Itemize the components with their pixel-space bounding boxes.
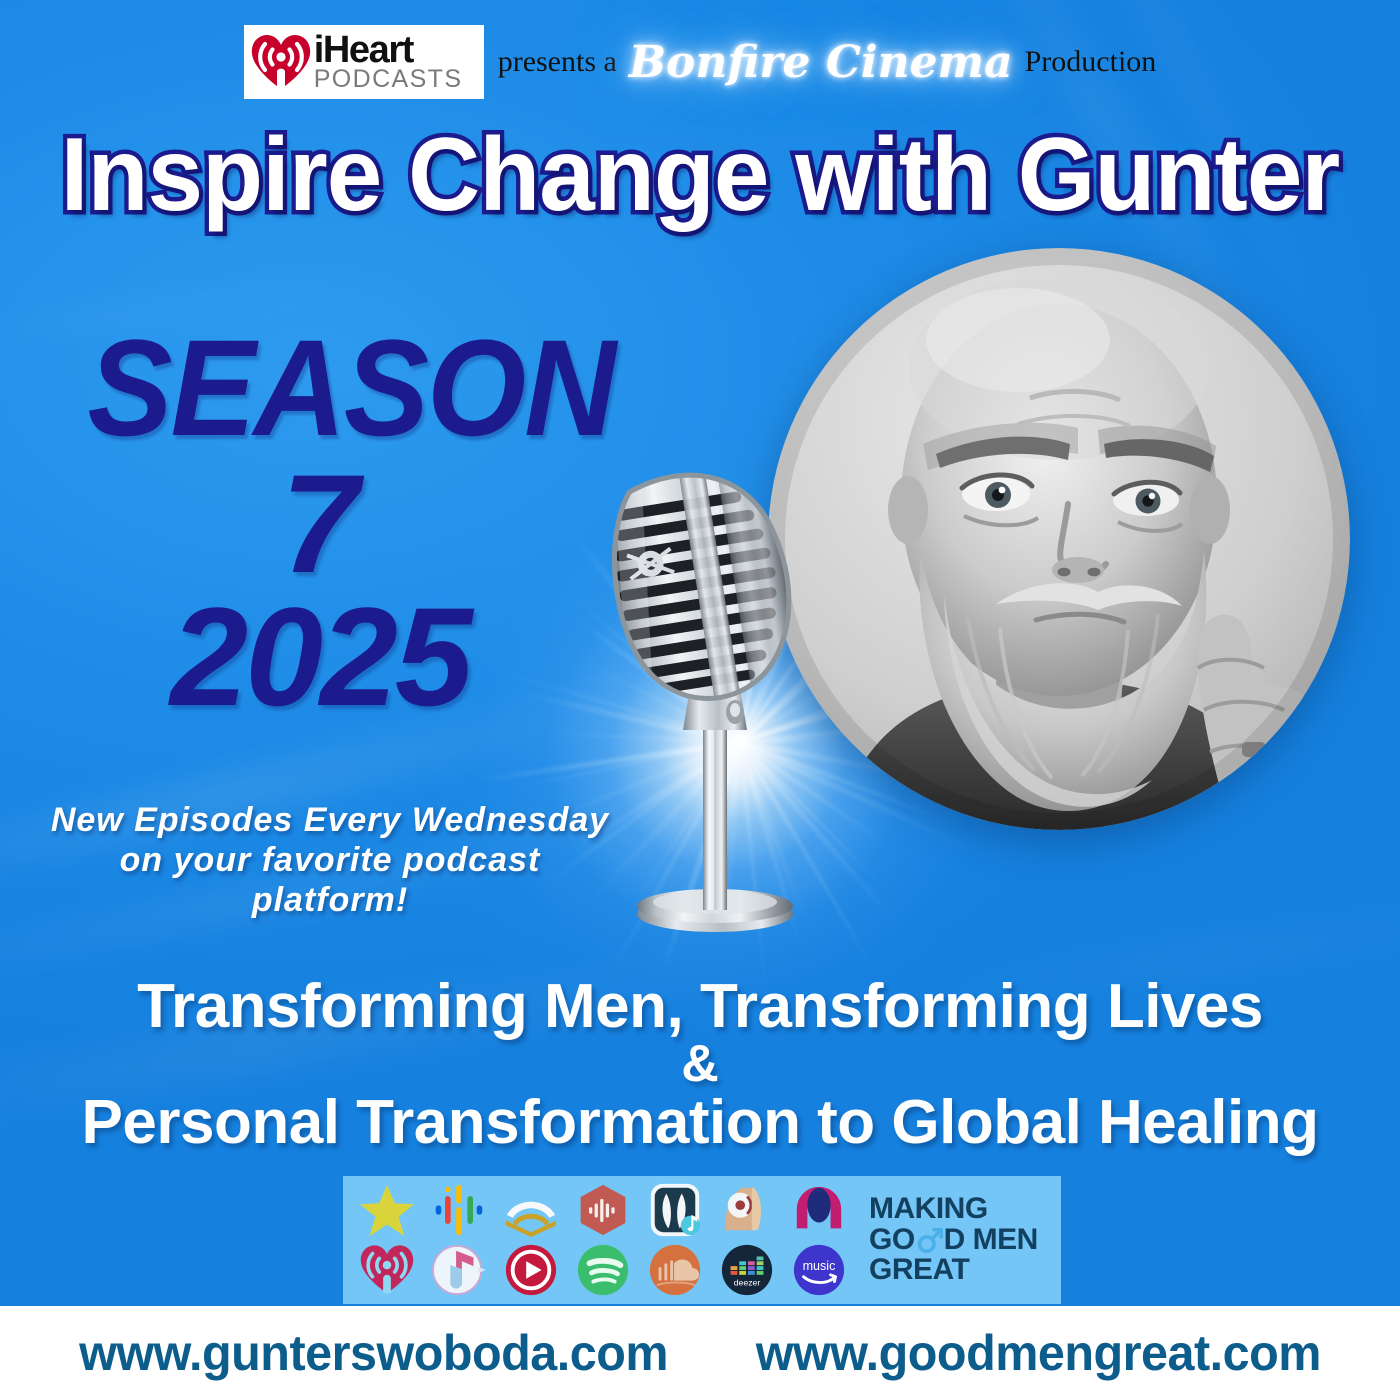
website-link-brand[interactable]: www.goodmengreat.com — [756, 1324, 1321, 1382]
presents-text: presents a — [498, 45, 617, 79]
soundcloud-icon[interactable] — [646, 1241, 704, 1299]
season-label: SEASON — [88, 325, 553, 454]
pocket-casts-icon[interactable] — [574, 1181, 632, 1239]
mission-line-1: Transforming Men, Transforming Lives — [0, 975, 1400, 1038]
male-mars-symbol-icon — [916, 1227, 943, 1254]
making-good-men-great-logo: MAKING GO D MEN GREAT — [869, 1194, 1038, 1286]
studio-name: Bonfire Cinema — [629, 37, 1013, 88]
platform-icon-grid: deezer music — [351, 1180, 855, 1300]
schedule-tagline: New Episodes Every Wednesday on your fav… — [40, 800, 620, 920]
website-link-personal[interactable]: www.gunterswoboda.com — [79, 1324, 668, 1382]
mggg-line-2-a: GO — [869, 1225, 915, 1256]
production-text: Production — [1025, 45, 1157, 79]
mggg-line-3: GREAT — [869, 1255, 1038, 1286]
iheartradio-icon[interactable] — [358, 1241, 416, 1299]
iheart-podcasts-logo: iHeart PODCASTS — [244, 25, 484, 99]
schedule-line-1: New Episodes Every Wednesday — [40, 800, 620, 840]
footer-url-bar: www.gunterswoboda.com www.goodmengreat.c… — [0, 1306, 1400, 1400]
podcast-addict-icon[interactable] — [718, 1181, 776, 1239]
season-number: 7 — [70, 458, 570, 590]
schedule-line-2: on your favorite podcast platform! — [40, 840, 620, 920]
castbox-icon[interactable] — [646, 1181, 704, 1239]
mission-statement: Transforming Men, Transforming Lives & P… — [0, 975, 1400, 1155]
podcast-cover-art: iHeart PODCASTS presents a Bonfire Cinem… — [0, 0, 1400, 1400]
iheart-heart-waves-icon — [250, 33, 312, 91]
podchaser-star-icon[interactable] — [358, 1181, 416, 1239]
deezer-label: deezer — [734, 1277, 761, 1287]
mggg-line-2-b: D MEN — [944, 1225, 1038, 1256]
amazon-music-label: music — [803, 1259, 836, 1273]
apple-podcasts-icon[interactable] — [430, 1241, 488, 1299]
platform-availability-strip: deezer music MAKING GO — [343, 1176, 1061, 1304]
amazon-music-icon[interactable]: music — [790, 1241, 848, 1299]
mggg-line-2: GO D MEN — [869, 1225, 1038, 1256]
portrait-photo — [768, 248, 1350, 830]
anchor-icon[interactable] — [790, 1181, 848, 1239]
microphone-icon — [585, 462, 845, 942]
season-year: 2025 — [70, 591, 570, 723]
deezer-icon[interactable]: deezer — [718, 1241, 776, 1299]
audible-icon[interactable] — [502, 1181, 560, 1239]
google-podcasts-icon[interactable] — [430, 1181, 488, 1239]
iheart-name: iHeart — [314, 33, 463, 68]
page-title: Inspire Change with Gunter — [28, 116, 1372, 235]
spotify-icon[interactable] — [574, 1241, 632, 1299]
iheart-podcasts-label: PODCASTS — [314, 68, 463, 91]
iheart-wordmark: iHeart PODCASTS — [314, 33, 463, 91]
mission-line-2: Personal Transformation to Global Healin… — [0, 1091, 1400, 1154]
header-credit-row: iHeart PODCASTS presents a Bonfire Cinem… — [0, 18, 1400, 106]
mission-connector: & — [0, 1038, 1400, 1091]
youtube-music-icon[interactable] — [502, 1241, 560, 1299]
season-block: SEASON 7 2025 — [70, 325, 570, 723]
host-portrait — [768, 248, 1350, 830]
mggg-line-1: MAKING — [869, 1194, 1038, 1225]
